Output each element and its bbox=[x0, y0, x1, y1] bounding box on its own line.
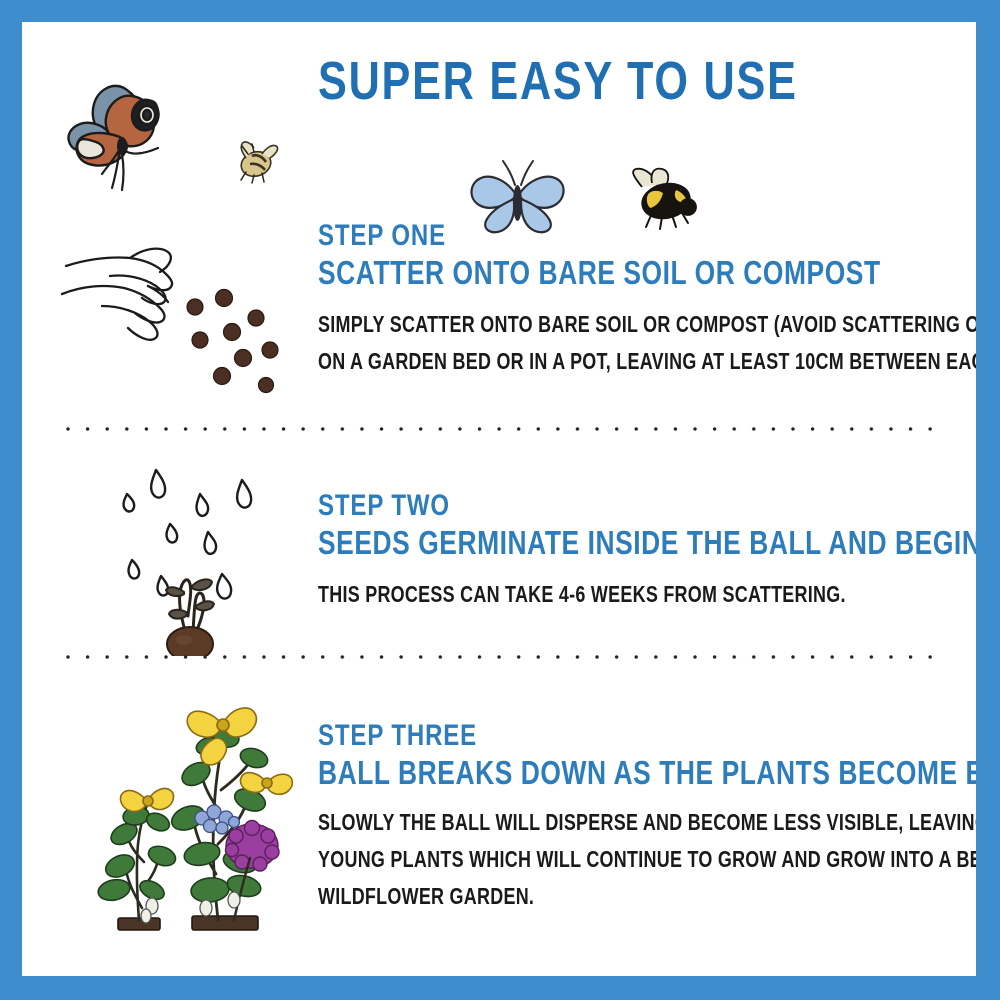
dotted-divider bbox=[66, 654, 942, 660]
step-two-text: STEP TWO SEEDS GERMINATE INSIDE THE BALL… bbox=[318, 488, 976, 613]
step-three-body-line: WILDFLOWER GARDEN. bbox=[318, 878, 976, 915]
step-two-label: STEP TWO bbox=[318, 488, 976, 523]
step-one-label: STEP ONE bbox=[318, 218, 976, 253]
poster-canvas: SUPER EASY TO USE bbox=[22, 22, 976, 976]
step-three-body-line: YOUNG PLANTS WHICH WILL CONTINUE TO GROW… bbox=[318, 841, 976, 878]
step-three-label: STEP THREE bbox=[318, 718, 976, 753]
step-one-text: STEP ONE SCATTER ONTO BARE SOIL OR COMPO… bbox=[318, 218, 976, 380]
step-three-text: STEP THREE BALL BREAKS DOWN AS THE PLANT… bbox=[318, 718, 976, 915]
step-three-body-line: SLOWLY THE BALL WILL DISPERSE AND BECOME… bbox=[318, 804, 976, 841]
step-two-heading: SEEDS GERMINATE INSIDE THE BALL AND BEGI… bbox=[318, 523, 976, 563]
scattering-hand-icon bbox=[60, 240, 310, 400]
step-three-heading: BALL BREAKS DOWN AS THE PLANTS BECOME ES… bbox=[318, 753, 976, 793]
wildflower-cluster-icon bbox=[84, 694, 314, 944]
poster-root: SUPER EASY TO USE bbox=[0, 0, 1000, 1000]
page-title: SUPER EASY TO USE bbox=[318, 54, 798, 108]
step-one-heading: SCATTER ONTO BARE SOIL OR COMPOST bbox=[318, 253, 976, 293]
step-one-body-line: ON A GARDEN BED OR IN A POT, LEAVING AT … bbox=[318, 343, 976, 380]
rain-drop-icon bbox=[100, 456, 280, 656]
small-bee-icon bbox=[226, 130, 288, 192]
step-one-body-line: SIMPLY SCATTER ONTO BARE SOIL OR COMPOST… bbox=[318, 306, 976, 343]
step-two-body-line: THIS PROCESS CAN TAKE 4-6 WEEKS FROM SCA… bbox=[318, 576, 976, 613]
dotted-divider bbox=[66, 426, 942, 432]
peacock-butterfly-icon bbox=[62, 70, 202, 200]
